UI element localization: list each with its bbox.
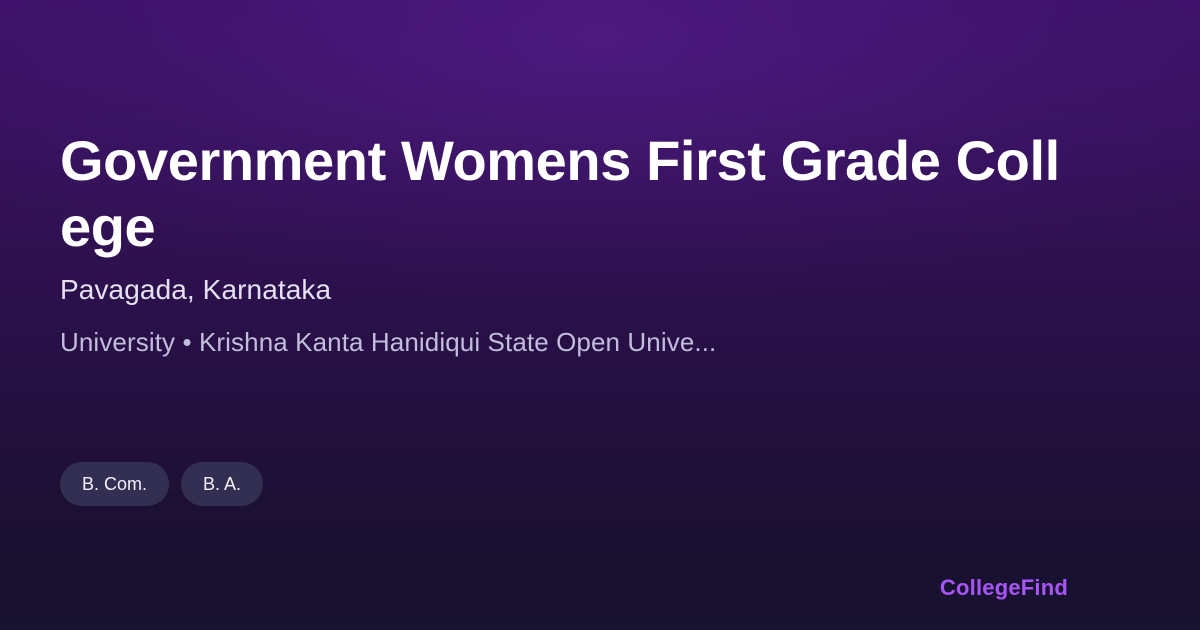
- brand-wordmark: CollegeFind: [940, 574, 1068, 602]
- course-tag[interactable]: B. A.: [181, 462, 263, 506]
- page-title: Government Womens First Grade College: [60, 128, 1080, 260]
- course-tag[interactable]: B. Com.: [60, 462, 169, 506]
- institution-meta-label: University • Krishna Kanta Hanidiqui Sta…: [60, 325, 716, 359]
- location-label: Pavagada, Karnataka: [60, 272, 331, 308]
- college-social-card: Government Womens First Grade College Pa…: [0, 0, 1200, 630]
- course-tag-list: B. Com. B. A.: [60, 462, 263, 506]
- card-content: Government Womens First Grade College Pa…: [60, 0, 1080, 630]
